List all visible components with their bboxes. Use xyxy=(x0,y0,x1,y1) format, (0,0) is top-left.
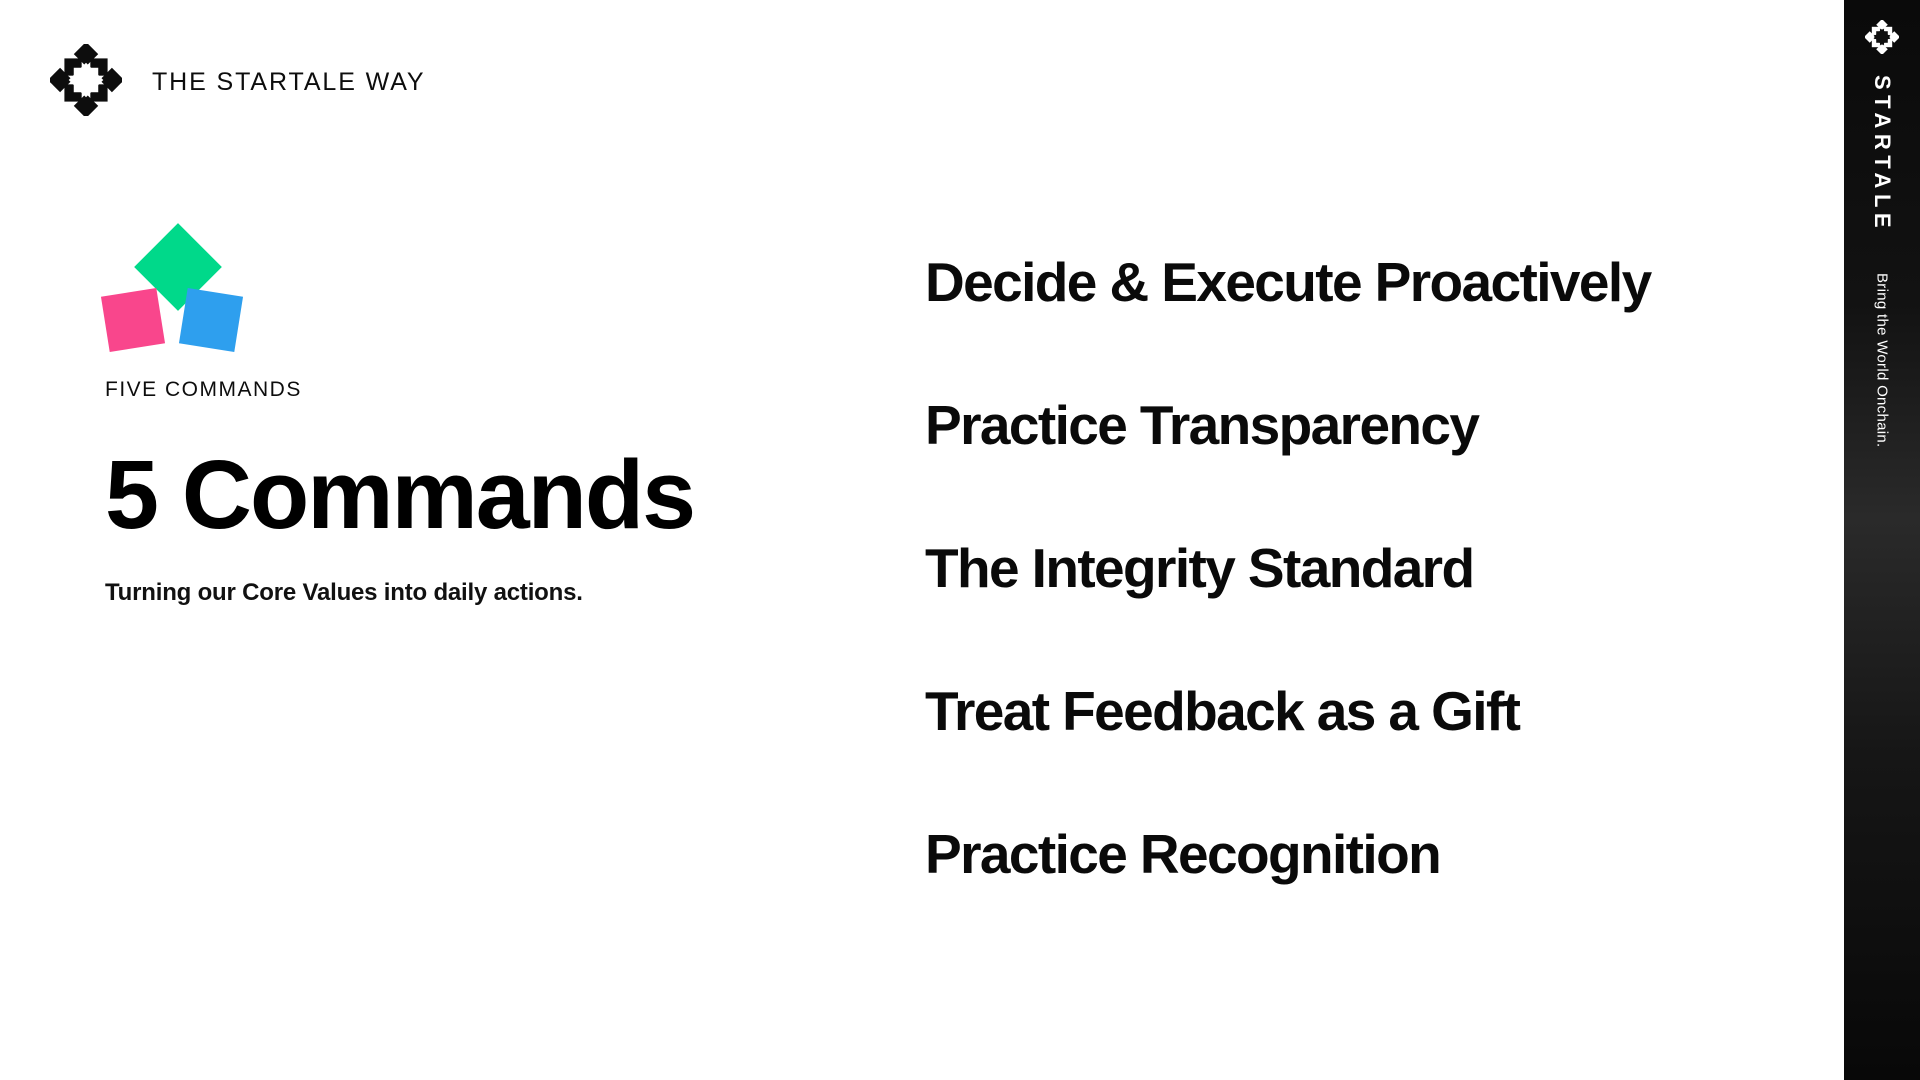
list-item[interactable]: Practice Transparency xyxy=(925,353,1755,496)
decorative-shape-cluster xyxy=(105,236,265,356)
list-item[interactable]: Treat Feedback as a Gift xyxy=(925,639,1755,782)
brand-sidebar: STARTALE Bring the World Onchain. xyxy=(1844,0,1920,1080)
list-item[interactable]: The Integrity Standard xyxy=(925,496,1755,639)
slide-header: THE STARTALE WAY xyxy=(50,44,426,121)
list-item[interactable]: Practice Recognition xyxy=(925,782,1755,925)
sidebar-brand-name: STARTALE xyxy=(1869,75,1895,233)
sidebar-tagline: Bring the World Onchain. xyxy=(1874,273,1891,448)
startale-star-logo-icon xyxy=(1865,20,1899,59)
section-eyebrow: FIVE COMMANDS xyxy=(105,378,745,402)
list-item[interactable]: Decide & Execute Proactively xyxy=(925,210,1755,353)
intro-column: FIVE COMMANDS 5 Commands Turning our Cor… xyxy=(105,236,745,607)
slide-canvas: THE STARTALE WAY FIVE COMMANDS 5 Command… xyxy=(0,0,1920,1080)
page-title: THE STARTALE WAY xyxy=(152,68,426,97)
pink-square-icon xyxy=(101,288,165,352)
section-subtitle: Turning our Core Values into daily actio… xyxy=(105,579,745,607)
startale-star-logo-icon xyxy=(50,44,122,121)
section-heading: 5 Commands xyxy=(105,446,745,543)
blue-square-icon xyxy=(179,288,243,352)
commands-list: Decide & Execute Proactively Practice Tr… xyxy=(925,210,1755,925)
